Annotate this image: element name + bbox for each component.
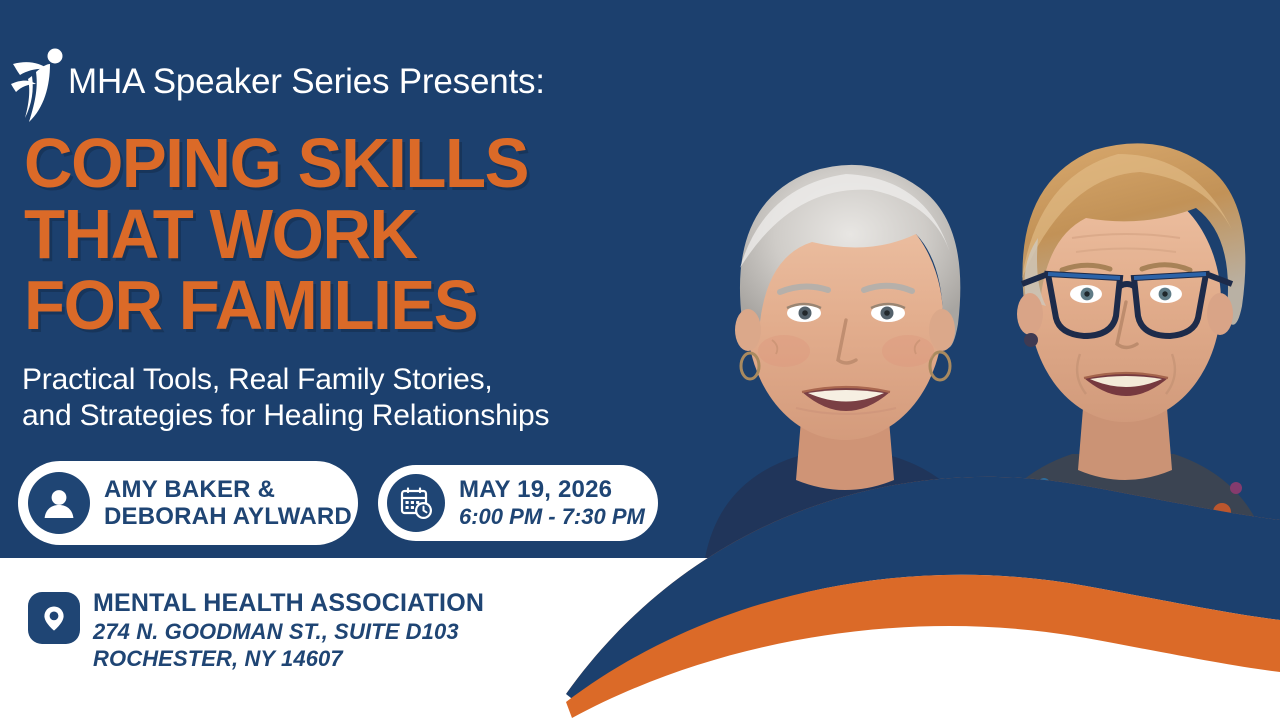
venue-address-block: MENTAL HEALTH ASSOCIATION 274 N. GOODMAN… bbox=[93, 588, 484, 672]
speaker-names-badge: AMY BAKER & DEBORAH AYLWARD bbox=[18, 461, 358, 545]
organization-name: MENTAL HEALTH ASSOCIATION bbox=[93, 588, 484, 618]
person-icon bbox=[28, 472, 90, 534]
address-line-1: 274 N. GOODMAN ST., SUITE D103 bbox=[93, 618, 484, 645]
page-title: COPING SKILLS THAT WORK FOR FAMILIES bbox=[24, 128, 664, 341]
headline-line-3: FOR FAMILIES bbox=[24, 270, 638, 341]
speaker-names-text: AMY BAKER & DEBORAH AYLWARD bbox=[104, 476, 352, 530]
headline-line-1: COPING SKILLS bbox=[24, 128, 638, 199]
subtitle-line-2: and Strategies for Healing Relationships bbox=[22, 398, 662, 434]
speaker-name-line-1: AMY BAKER & bbox=[104, 476, 352, 503]
event-date-badge: MAY 19, 2026 6:00 PM - 7:30 PM bbox=[378, 465, 658, 541]
page-subtitle: Practical Tools, Real Family Stories, an… bbox=[22, 362, 662, 434]
mha-swoosh-logo-icon bbox=[10, 46, 68, 124]
subtitle-line-1: Practical Tools, Real Family Stories, bbox=[22, 362, 662, 398]
speaker-name-line-2: DEBORAH AYLWARD bbox=[104, 503, 352, 530]
series-kicker: MHA Speaker Series Presents: bbox=[68, 62, 545, 102]
event-flyer: MHA Speaker Series Presents: COPING SKIL… bbox=[0, 0, 1280, 720]
event-time: 6:00 PM - 7:30 PM bbox=[459, 503, 645, 530]
headline-line-2: THAT WORK bbox=[24, 199, 638, 270]
event-date: MAY 19, 2026 bbox=[459, 476, 645, 503]
address-line-2: ROCHESTER, NY 14607 bbox=[93, 645, 484, 672]
speaker-photos-group bbox=[660, 0, 1280, 558]
speaker-photo-deborah-aylward bbox=[960, 88, 1280, 558]
calendar-clock-icon bbox=[387, 474, 445, 532]
event-date-text: MAY 19, 2026 6:00 PM - 7:30 PM bbox=[459, 476, 645, 530]
map-pin-icon bbox=[28, 592, 80, 644]
